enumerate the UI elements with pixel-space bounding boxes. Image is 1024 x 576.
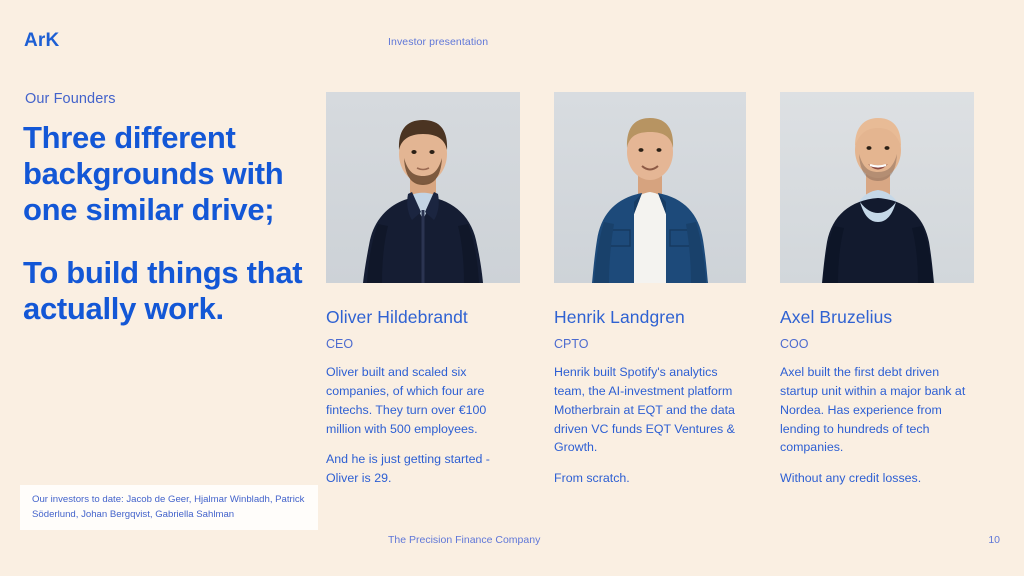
page-title: Three different backgrounds with one sim…: [23, 120, 323, 327]
footer-tagline: The Precision Finance Company: [388, 534, 540, 546]
founder-role: CEO: [326, 337, 520, 351]
founder-bio: Axel built the first debt driven startup…: [780, 363, 974, 457]
presentation-label: Investor presentation: [388, 36, 488, 48]
investors-text: Our investors to date: Jacob de Geer, Hj…: [32, 493, 306, 523]
headline-line-2: backgrounds with: [23, 156, 283, 191]
investors-callout: Our investors to date: Jacob de Geer, Hj…: [20, 485, 318, 530]
headline-line-1: Three different: [23, 120, 236, 155]
founder-bio-extra: And he is just getting started - Oliver …: [326, 450, 520, 488]
section-eyebrow: Our Founders: [25, 91, 116, 107]
founder-name: Axel Bruzelius: [780, 307, 974, 328]
headline-line-4: To build things: [23, 255, 238, 290]
founder-bio-extra: From scratch.: [554, 469, 746, 488]
founder-bio-extra: Without any credit losses.: [780, 469, 974, 488]
founder-card-axel-bruzelius: Axel Bruzelius COO Axel built the first …: [780, 92, 974, 488]
founder-name: Oliver Hildebrandt: [326, 307, 520, 328]
brand-logo: ArK: [24, 30, 59, 52]
founder-role: COO: [780, 337, 974, 351]
founder-name: Henrik Landgren: [554, 307, 746, 328]
founder-bio: Oliver built and scaled six companies, o…: [326, 363, 520, 438]
headline-line-3: one similar drive;: [23, 192, 274, 227]
founder-card-oliver-hildebrandt: Oliver Hildebrandt CEO Oliver built and …: [326, 92, 520, 488]
portrait-oliver-hildebrandt: [326, 92, 520, 283]
portrait-henrik-landgren: [554, 92, 746, 283]
page-number: 10: [988, 534, 1000, 546]
portrait-axel-bruzelius: [780, 92, 974, 283]
founder-card-henrik-landgren: Henrik Landgren CPTO Henrik built Spotif…: [554, 92, 746, 488]
founder-role: CPTO: [554, 337, 746, 351]
founder-bio: Henrik built Spotify's analytics team, t…: [554, 363, 746, 457]
headline-spacer: [23, 228, 323, 255]
